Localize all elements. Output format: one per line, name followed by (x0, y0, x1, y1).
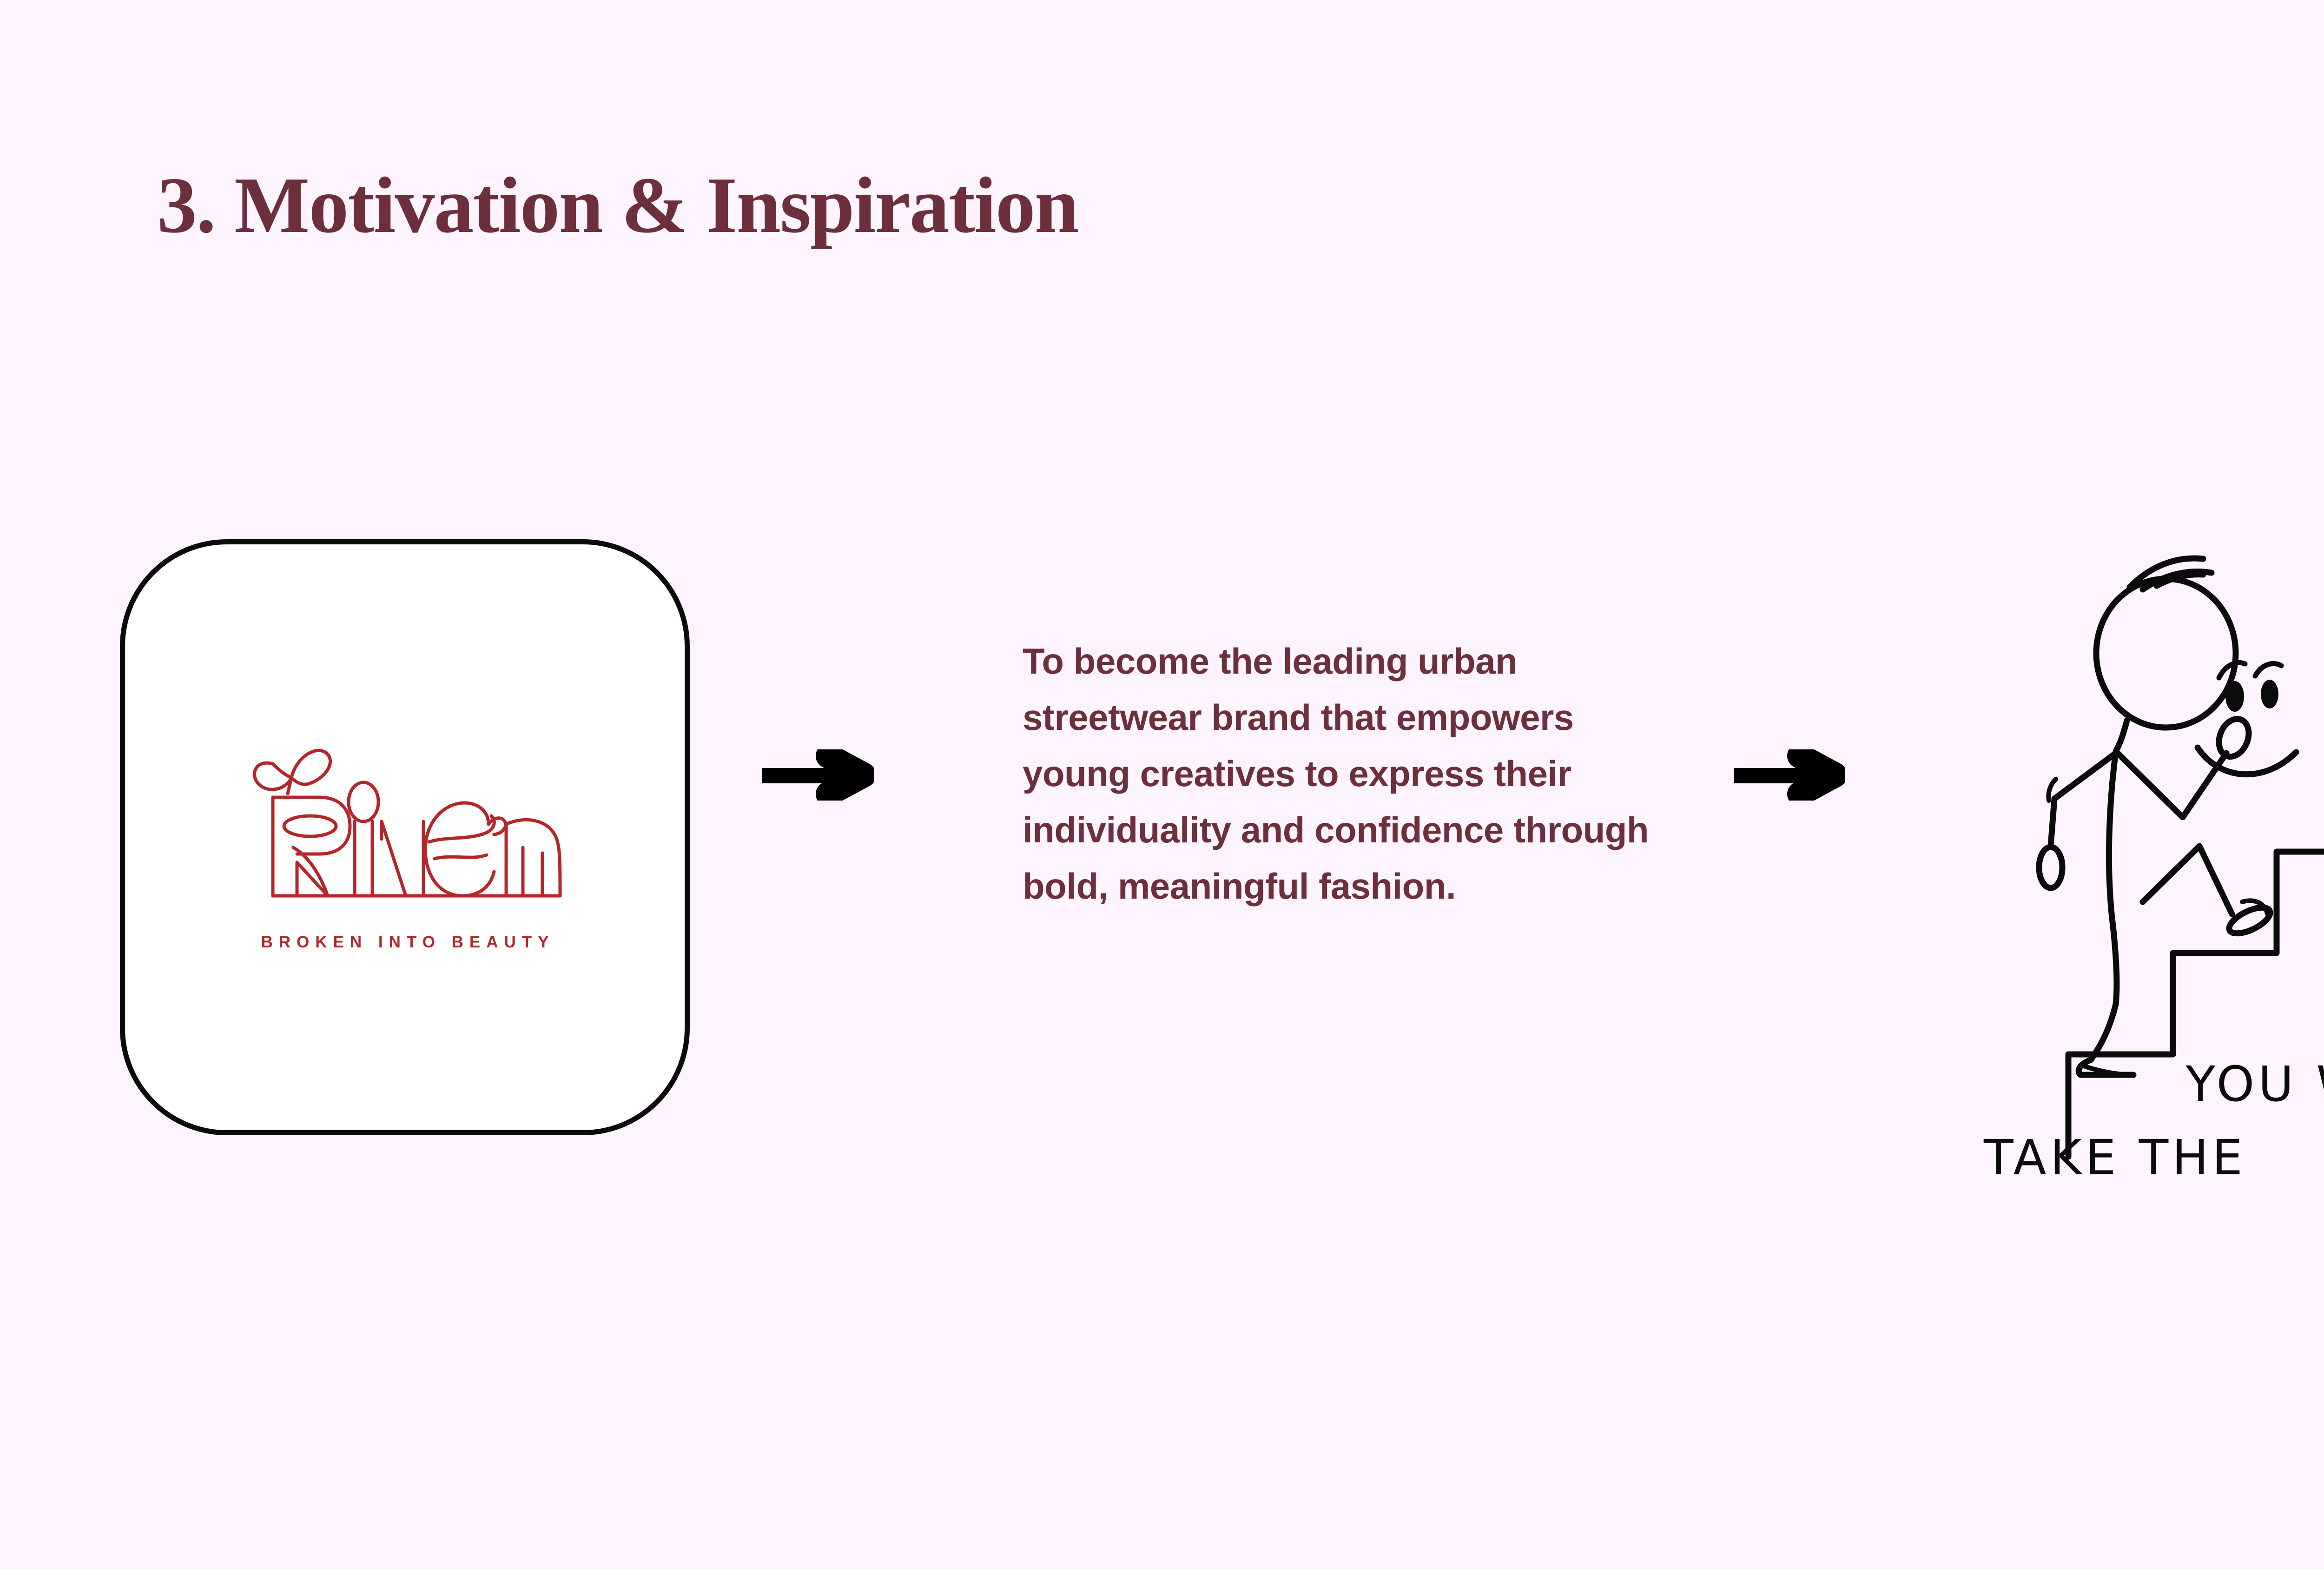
quote-line-you-will-have-to: YOU WILL HAVE TO (2185, 1056, 2324, 1112)
logo-tagline: BROKEN INTO BEAUTY (255, 933, 555, 952)
slide-canvas: 3. Motivation & Inspiration (0, 0, 2324, 1569)
logo-card[interactable]: BROKEN INTO BEAUTY (120, 539, 690, 1135)
flow-arrow-1 (762, 749, 874, 803)
motivation-illustration: IF YOU WANT TO GET TO THE TOP, YOU WILL … (1943, 521, 2324, 1181)
logo-wrap: BROKEN INTO BEAUTY (125, 544, 685, 1130)
riven-logo-icon (228, 723, 581, 923)
arrow-right-icon (1734, 749, 1845, 801)
quote-text-group: IF YOU WANT TO GET TO THE TOP, YOU WILL … (1983, 577, 2324, 1181)
mission-statement: To become the leading urban streetwear b… (1023, 633, 1683, 914)
quote-line-take-the: TAKE THE (1983, 1129, 2246, 1181)
page-title: 3. Motivation & Inspiration (157, 164, 1078, 248)
flow-arrow-2 (1734, 749, 1845, 803)
arrow-right-icon (762, 749, 874, 801)
stairs-quote-graphic: IF YOU WANT TO GET TO THE TOP, YOU WILL … (1943, 521, 2324, 1181)
stick-figure-icon (2039, 558, 2296, 1075)
